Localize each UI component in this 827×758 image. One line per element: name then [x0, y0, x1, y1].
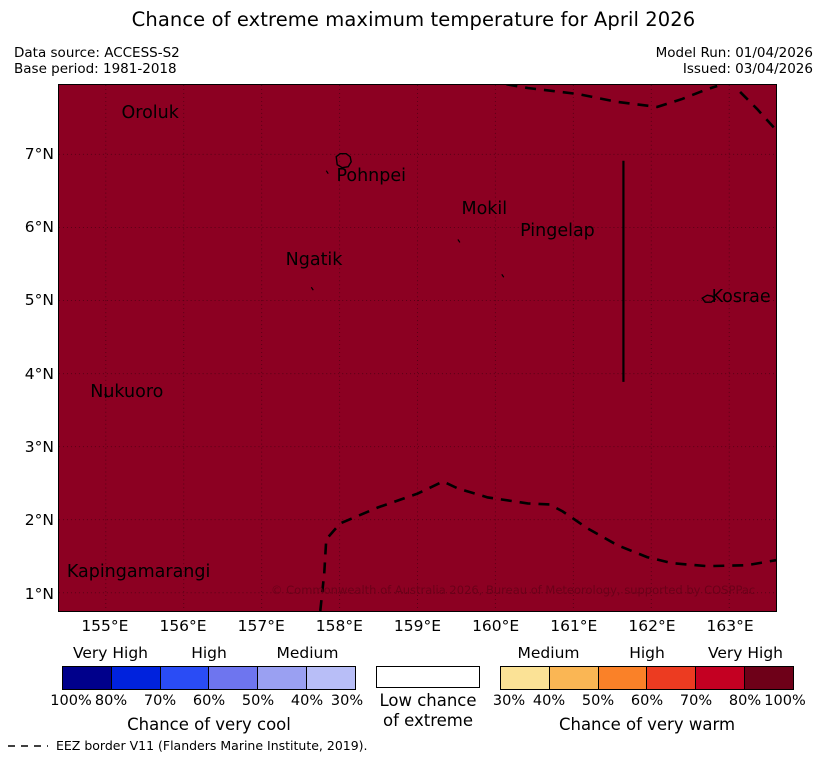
- y-tick-label: 4°N: [2, 365, 54, 383]
- legend-swatch-1[interactable]: [550, 667, 599, 689]
- legend-warm-tick-labels: 30%40%50%60%70%80%100%: [500, 693, 794, 713]
- x-tick-label: 159°E: [394, 617, 441, 635]
- legend-swatch-5[interactable]: [745, 667, 793, 689]
- legend-chance-very-cool[interactable]: Very HighHighMedium 100%80%70%60%50%40%3…: [62, 644, 356, 734]
- legend-tick-label: 60%: [631, 693, 663, 709]
- map-copyright-credit: © Commonwealth of Australia 2026, Bureau…: [271, 583, 755, 597]
- map-label-pohnpei: Pohnpei: [336, 166, 406, 186]
- legend-tick-label: 50%: [242, 693, 274, 709]
- x-axis-ticks: 155°E156°E157°E158°E159°E160°E161°E162°E…: [58, 617, 777, 639]
- legend-tick-label: 60%: [193, 693, 225, 709]
- legend-warm-colorbar: [500, 666, 794, 690]
- legend-tick-label: 80%: [95, 693, 127, 709]
- map-label-pingelap: Pingelap: [520, 221, 595, 241]
- page-title: Chance of extreme maximum temperature fo…: [0, 8, 827, 31]
- legend-low-caption-line1: Low chance: [376, 691, 480, 711]
- legend-swatch-1[interactable]: [112, 667, 161, 689]
- legend-category-label: Very High: [73, 644, 148, 662]
- map-label-oroluk: Oroluk: [122, 103, 179, 123]
- map-label-kosrae: Kosrae: [712, 287, 771, 307]
- legend-category-label: High: [191, 644, 227, 662]
- legend-cool-caption: Chance of very cool: [62, 715, 356, 734]
- x-tick-label: 163°E: [707, 617, 754, 635]
- map-plot-area[interactable]: OrolukPohnpeiMokilPingelapNgatikKosraeNu…: [58, 84, 777, 612]
- issued-text: Issued: 03/04/2026: [656, 61, 813, 77]
- legend-cool-tick-labels: 100%80%70%60%50%40%30%: [62, 693, 356, 713]
- x-tick-label: 161°E: [550, 617, 597, 635]
- legend-tick-label: 80%: [729, 693, 761, 709]
- legend-warm-categories: MediumHighVery High: [500, 644, 794, 664]
- legend-low-caption-line2: of extreme: [376, 711, 480, 731]
- legend-swatch-4[interactable]: [258, 667, 307, 689]
- legend-swatch-0[interactable]: [501, 667, 550, 689]
- legend-swatch-3[interactable]: [209, 667, 258, 689]
- legend-category-label: High: [629, 644, 665, 662]
- x-tick-label: 156°E: [159, 617, 206, 635]
- legend-tick-label: 70%: [144, 693, 176, 709]
- x-tick-label: 160°E: [472, 617, 519, 635]
- legend-tick-label: 30%: [493, 693, 525, 709]
- legend-chance-very-warm[interactable]: MediumHighVery High 30%40%50%60%70%80%10…: [500, 644, 794, 734]
- legend-tick-label: 40%: [291, 693, 323, 709]
- x-tick-label: 155°E: [81, 617, 128, 635]
- legend-tick-label: 70%: [680, 693, 712, 709]
- legend-low-chance[interactable]: Low chance of extreme: [376, 666, 480, 731]
- legend-swatch-3[interactable]: [647, 667, 696, 689]
- legend-category-label: Medium: [276, 644, 338, 662]
- legend-tick-label: 30%: [331, 693, 363, 709]
- legend-category-label: Very High: [708, 644, 783, 662]
- legend-tick-label: 40%: [533, 693, 565, 709]
- legend-swatch-0[interactable]: [63, 667, 112, 689]
- map-label-kapingamarangi: Kapingamarangi: [67, 562, 211, 582]
- y-tick-label: 2°N: [2, 511, 54, 529]
- legend-swatch-2[interactable]: [599, 667, 648, 689]
- footnote: EEZ border V11 (Flanders Marine Institut…: [6, 738, 368, 753]
- x-tick-label: 158°E: [316, 617, 363, 635]
- legend-tick-label: 100%: [764, 693, 805, 709]
- map-vector-layer: [59, 85, 776, 611]
- map-label-mokil: Mokil: [461, 199, 507, 219]
- footnote-text: EEZ border V11 (Flanders Marine Institut…: [56, 738, 368, 753]
- y-tick-label: 7°N: [2, 145, 54, 163]
- dashed-line-sample-icon: [6, 741, 50, 751]
- x-tick-label: 157°E: [238, 617, 285, 635]
- y-tick-label: 5°N: [2, 291, 54, 309]
- legend-low-caption: Low chance of extreme: [376, 691, 480, 731]
- map-gridlines: [59, 85, 776, 611]
- map-label-ngatik: Ngatik: [286, 250, 343, 270]
- x-tick-label: 162°E: [628, 617, 675, 635]
- map-label-nukuoro: Nukuoro: [90, 382, 163, 402]
- y-tick-label: 3°N: [2, 438, 54, 456]
- legend-category-label: Medium: [518, 644, 580, 662]
- y-tick-label: 1°N: [2, 585, 54, 603]
- model-run-text: Model Run: 01/04/2026: [656, 45, 813, 61]
- eez-border-lines: [320, 85, 776, 611]
- legend-tick-label: 100%: [50, 693, 91, 709]
- legend-swatch-2[interactable]: [161, 667, 210, 689]
- legend-warm-caption: Chance of very warm: [500, 715, 794, 734]
- metadata-right: Model Run: 01/04/2026 Issued: 03/04/2026: [656, 45, 813, 77]
- legend-cool-categories: Very HighHighMedium: [62, 644, 356, 664]
- legend-swatch-4[interactable]: [696, 667, 745, 689]
- y-axis-ticks: 7°N6°N5°N4°N3°N2°N1°N: [0, 0, 54, 758]
- legend-tick-label: 50%: [582, 693, 614, 709]
- legend-low-swatch: [376, 666, 480, 688]
- y-tick-label: 6°N: [2, 218, 54, 236]
- legend-cool-colorbar: [62, 666, 356, 690]
- legend-swatch-5[interactable]: [307, 667, 355, 689]
